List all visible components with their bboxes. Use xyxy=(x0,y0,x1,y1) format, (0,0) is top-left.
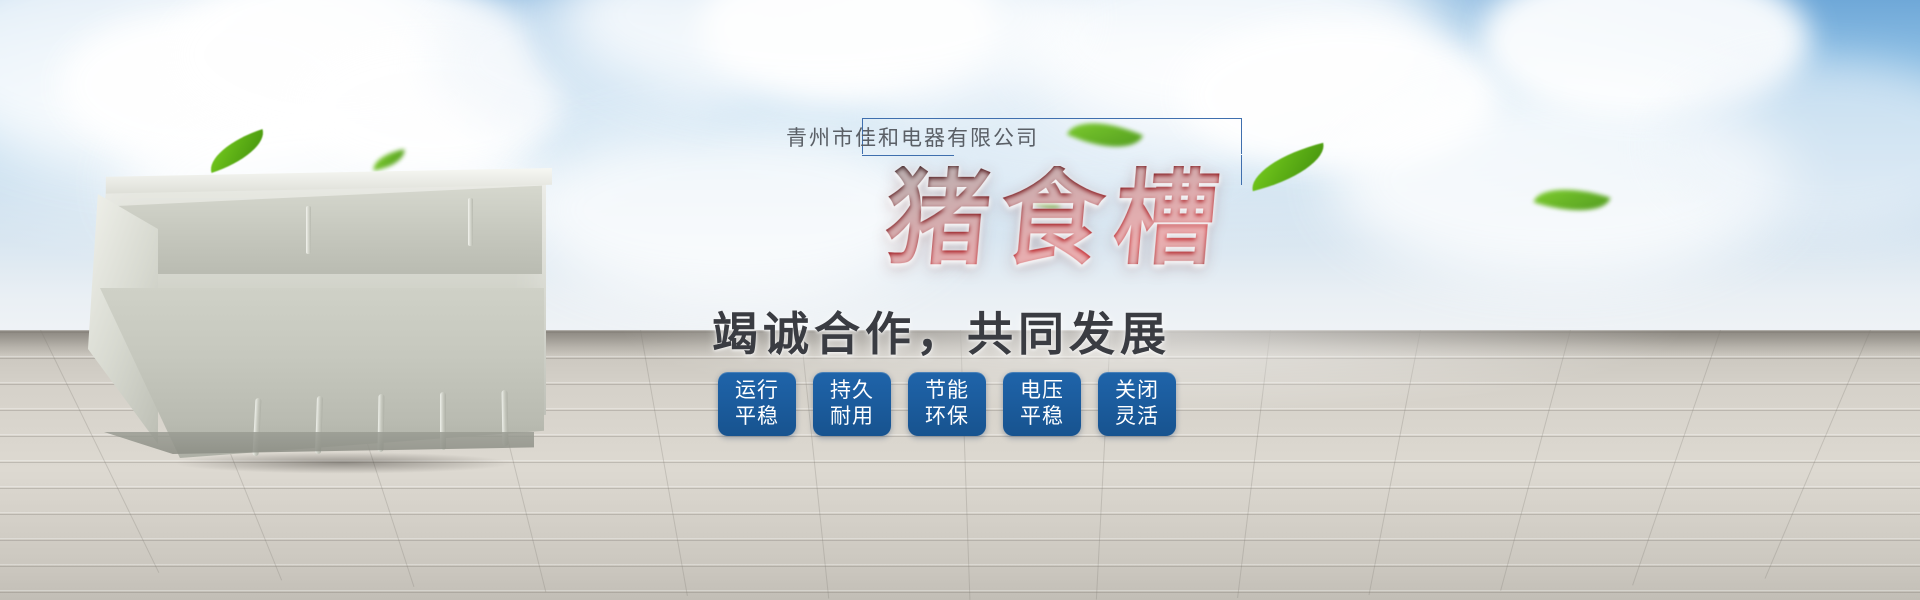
badge-line-2: 平稳 xyxy=(1020,404,1064,430)
feature-badge[interactable]: 运行 平稳 xyxy=(718,372,796,436)
feature-badge[interactable]: 关闭 灵活 xyxy=(1098,372,1176,436)
badge-line-1: 节能 xyxy=(925,378,969,404)
company-name: 青州市佳和电器有限公司 xyxy=(786,122,1086,152)
trough-rib xyxy=(468,198,473,246)
promo-banner: 青州市佳和电器有限公司 猪食槽 竭诚合作，共同发展 运行 平稳 持久 耐用 节能… xyxy=(0,0,1920,600)
trough-rib xyxy=(306,206,311,254)
badge-line-1: 运行 xyxy=(735,378,779,404)
badge-line-2: 灵活 xyxy=(1115,404,1159,430)
badge-line-1: 持久 xyxy=(830,378,874,404)
badge-line-1: 电压 xyxy=(1020,378,1064,404)
page-title: 猪食槽 xyxy=(881,166,1232,270)
badge-line-2: 环保 xyxy=(925,404,969,430)
badge-line-2: 耐用 xyxy=(830,404,874,430)
feature-badge-list: 运行 平稳 持久 耐用 节能 环保 电压 平稳 关闭 灵活 xyxy=(718,372,1176,436)
feature-badge[interactable]: 持久 耐用 xyxy=(813,372,891,436)
product-image-trough xyxy=(78,160,578,472)
badge-line-1: 关闭 xyxy=(1115,378,1159,404)
banner-subtitle: 竭诚合作，共同发展 xyxy=(712,298,1171,364)
feature-badge[interactable]: 节能 环保 xyxy=(908,372,986,436)
badge-line-2: 平稳 xyxy=(735,404,779,430)
feature-badge[interactable]: 电压 平稳 xyxy=(1003,372,1081,436)
banner-content: 青州市佳和电器有限公司 猪食槽 竭诚合作，共同发展 运行 平稳 持久 耐用 节能… xyxy=(690,100,1390,540)
